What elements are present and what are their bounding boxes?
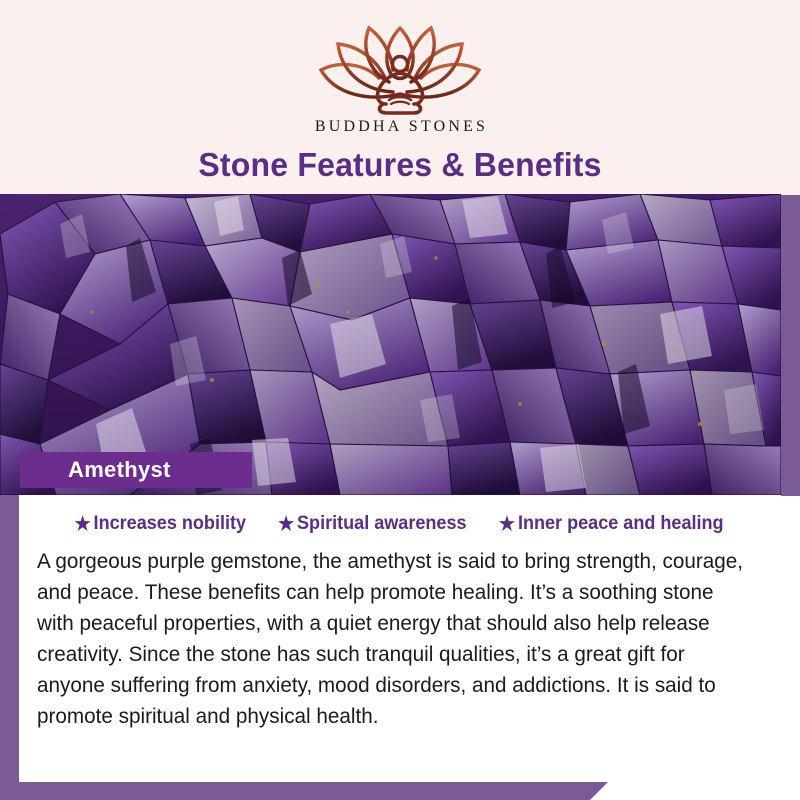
benefit-item: ★ Increases nobility bbox=[75, 513, 247, 535]
page-title: Stone Features & Benefits bbox=[12, 146, 788, 184]
lotus-meditation-icon bbox=[305, 20, 495, 116]
crystal-texture bbox=[0, 194, 781, 495]
stone-description: A gorgeous purple gemstone, the amethyst… bbox=[37, 546, 752, 732]
benefits-list: ★ Increases nobility ★ Spiritual awarene… bbox=[19, 495, 781, 535]
brand-name: BUDDHA STONES bbox=[0, 118, 800, 136]
frame-band-bottom bbox=[0, 782, 608, 800]
benefit-label: Spiritual awareness bbox=[297, 513, 467, 535]
header: BUDDHA STONES Stone Features & Benefits bbox=[0, 0, 800, 195]
benefit-item: ★ Inner peace and healing bbox=[499, 513, 724, 535]
benefit-item: ★ Spiritual awareness bbox=[278, 513, 467, 535]
benefit-label: Increases nobility bbox=[94, 513, 246, 535]
stone-name-text: Amethyst bbox=[20, 457, 171, 483]
brand-logo: BUDDHA STONES bbox=[0, 20, 800, 136]
product-feature-card: BUDDHA STONES Stone Features & Benefits bbox=[0, 0, 800, 800]
content-panel: ★ Increases nobility ★ Spiritual awarene… bbox=[19, 495, 781, 782]
frame-band-left bbox=[0, 495, 19, 800]
star-icon: ★ bbox=[75, 515, 91, 534]
benefit-label: Inner peace and healing bbox=[518, 513, 724, 535]
stone-name-badge: Amethyst bbox=[20, 452, 252, 488]
star-icon: ★ bbox=[499, 515, 515, 534]
amethyst-crystal-image bbox=[0, 194, 781, 495]
star-icon: ★ bbox=[278, 515, 294, 534]
